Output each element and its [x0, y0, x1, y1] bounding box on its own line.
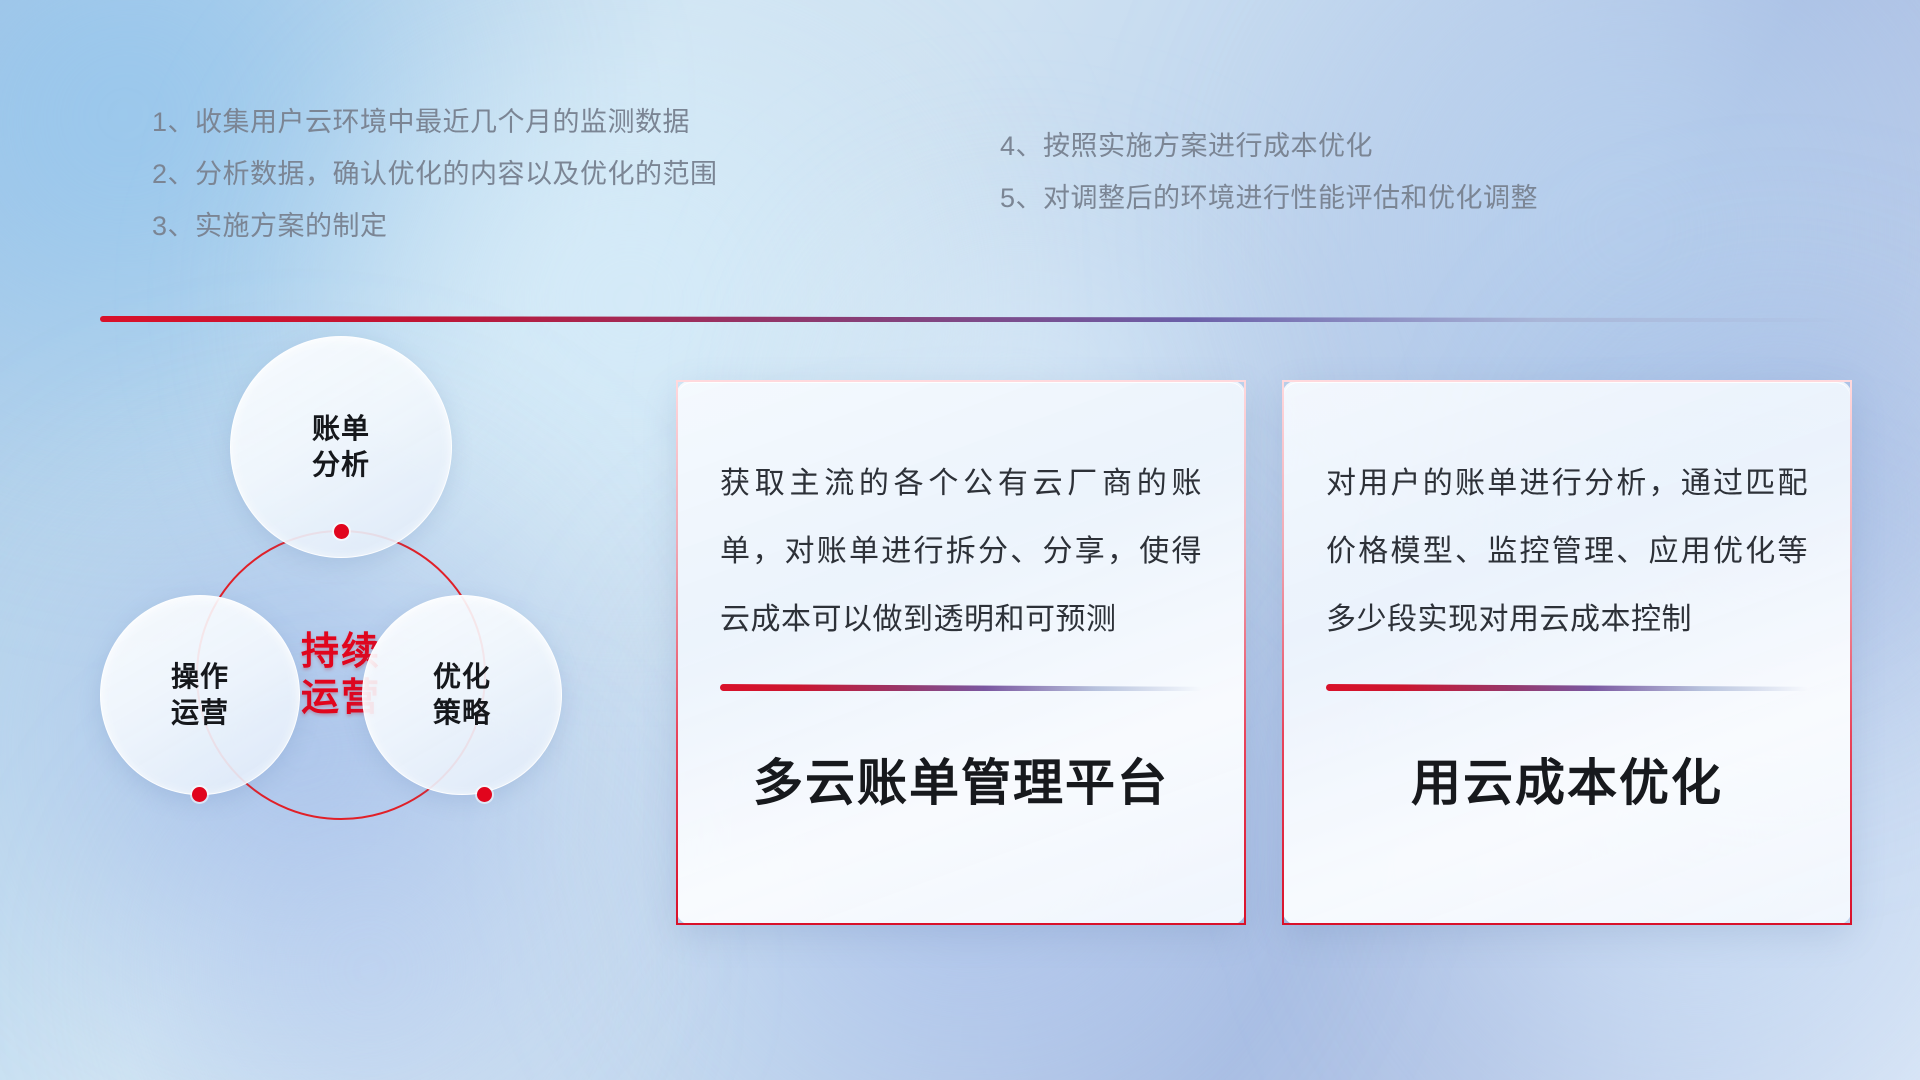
bubble-operation[interactable]: 操作 运营	[100, 595, 300, 795]
bubble-optimization-strategy-label: 优化 策略	[433, 659, 491, 731]
process-step-3: 3、实施方案的制定	[152, 200, 718, 252]
bubble-operation-label: 操作 运营	[171, 659, 229, 731]
connector-dot-top-icon	[334, 524, 349, 539]
connector-dot-bottom-right-icon	[477, 787, 492, 802]
card-1-rule	[720, 684, 1202, 691]
bubble-operation-line1: 操作	[171, 659, 229, 695]
bubble-operation-line2: 运营	[171, 695, 229, 731]
bubble-optimization-strategy-line1: 优化	[433, 659, 491, 695]
card-2-body: 对用户的账单进行分析，通过匹配价格模型、监控管理、应用优化等多少段实现对用云成本…	[1326, 450, 1808, 654]
card-2-title: 用云成本优化	[1326, 743, 1808, 815]
card-multi-cloud-billing-platform[interactable]: 获取主流的各个公有云厂商的账单，对账单进行拆分、分享，使得云成本可以做到透明和可…	[676, 380, 1246, 925]
card-1-body: 获取主流的各个公有云厂商的账单，对账单进行拆分、分享，使得云成本可以做到透明和可…	[720, 450, 1202, 654]
bubble-bill-analysis-line1: 账单	[312, 411, 370, 447]
card-2-rule	[1326, 684, 1808, 691]
process-step-5: 5、对调整后的环境进行性能评估和优化调整	[1000, 172, 1538, 224]
card-cloud-cost-optimization[interactable]: 对用户的账单进行分析，通过匹配价格模型、监控管理、应用优化等多少段实现对用云成本…	[1282, 380, 1852, 925]
process-step-4: 4、按照实施方案进行成本优化	[1000, 120, 1538, 172]
bubble-optimization-strategy[interactable]: 优化 策略	[362, 595, 562, 795]
bubble-bill-analysis-label: 账单 分析	[312, 411, 370, 483]
process-step-2: 2、分析数据，确认优化的内容以及优化的范围	[152, 148, 718, 200]
process-steps-right-column: 4、按照实施方案进行成本优化 5、对调整后的环境进行性能评估和优化调整	[1000, 120, 1538, 224]
process-steps-list: 1、收集用户云环境中最近几个月的监测数据 2、分析数据，确认优化的内容以及优化的…	[0, 0, 1920, 260]
continuous-operation-diagram: 持续 运营 账单 分析 操作 运营 优化 策略	[96, 350, 556, 910]
bubble-bill-analysis-line2: 分析	[312, 447, 370, 483]
bubble-optimization-strategy-line2: 策略	[433, 695, 491, 731]
connector-dot-bottom-left-icon	[192, 787, 207, 802]
card-1-title: 多云账单管理平台	[720, 743, 1202, 815]
process-steps-left-column: 1、收集用户云环境中最近几个月的监测数据 2、分析数据，确认优化的内容以及优化的…	[152, 96, 718, 252]
process-step-1: 1、收集用户云环境中最近几个月的监测数据	[152, 96, 718, 148]
